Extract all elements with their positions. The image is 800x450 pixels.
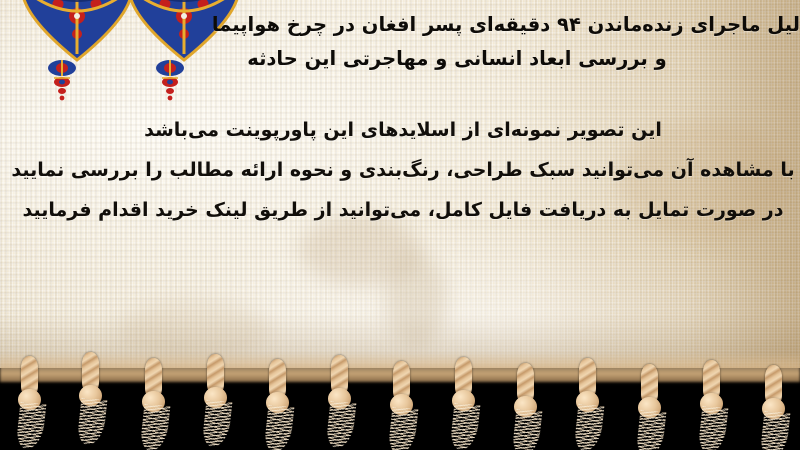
body-line-3: در صورت تمایل به دریافت فایل کامل، می‌تو… — [6, 190, 800, 230]
body-line-1: این تصویر نمونه‌ای از اسلایدهای این پاور… — [6, 110, 800, 150]
presentation-slide: لیل ماجرای زنده‌ماندن ۹۴ دقیقه‌ای پسر اف… — [0, 0, 800, 450]
slide-text-layer: لیل ماجرای زنده‌ماندن ۹۴ دقیقه‌ای پسر اف… — [0, 0, 800, 450]
slide-title: لیل ماجرای زنده‌ماندن ۹۴ دقیقه‌ای پسر اف… — [0, 8, 800, 76]
body-line-2: با مشاهده آن می‌توانید سبک طراحی، رنگ‌بن… — [6, 150, 800, 190]
slide-body: این تصویر نمونه‌ای از اسلایدهای این پاور… — [0, 110, 800, 230]
title-line-2: و بررسی ابعاد انسانی و مهاجرتی این حادثه — [0, 42, 800, 76]
title-line-1: لیل ماجرای زنده‌ماندن ۹۴ دقیقه‌ای پسر اف… — [0, 8, 800, 42]
